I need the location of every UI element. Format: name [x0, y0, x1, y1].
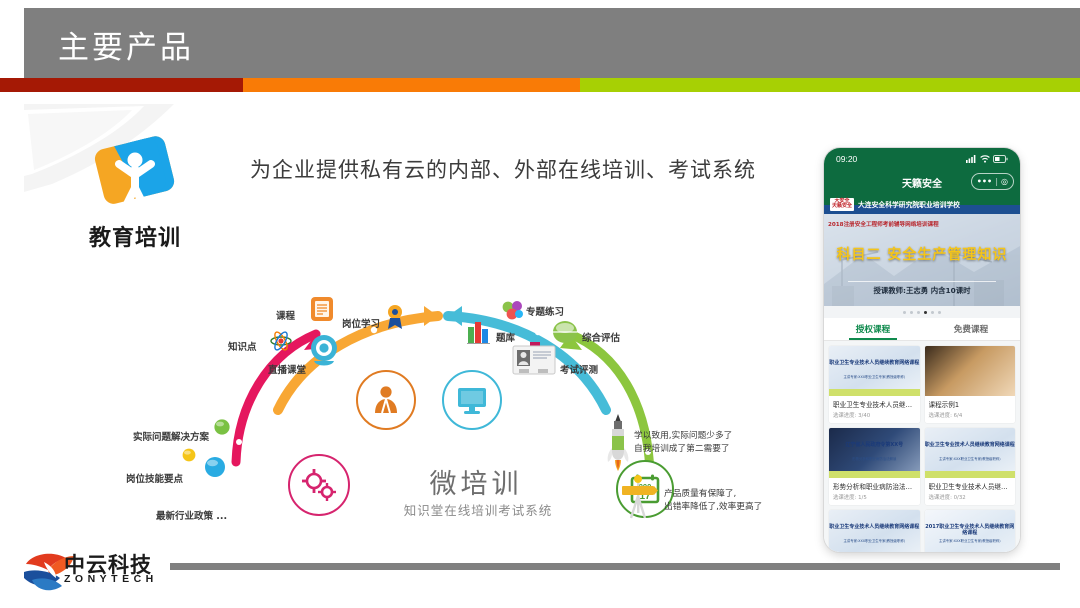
- label-job-learning: 岗位学习: [342, 316, 380, 330]
- hub-icon-monitor: [442, 370, 502, 430]
- thumbnail-subtitle: 主讲专家:XXX职业卫生专家(教授级职称): [925, 456, 1016, 461]
- status-time: 09:20: [836, 154, 857, 164]
- course-row: 职业卫生专业技术人员继续教育网络课程主讲专家:XXX职业卫生专家(教授级职称)职…: [829, 346, 1015, 423]
- course-tab-1[interactable]: 免费课程: [922, 318, 1020, 340]
- carousel-dot[interactable]: [931, 311, 934, 314]
- thumbnail-subtitle: 主讲专家:XXX职业卫生专家(教授级职称): [829, 538, 920, 543]
- accent-bar-red: [0, 78, 243, 92]
- footer-brand-en: ZONYTECH: [64, 573, 158, 585]
- banner-kicker: 2018注册安全工程师考前辅导网络培训课程: [828, 220, 939, 228]
- course-card[interactable]: 职业卫生专业技术人员继续教育网络课程主讲专家:XXX职业卫生专家(教授级职称)职…: [925, 428, 1016, 505]
- thumbnail-title: 辽宁省人民政府令第XX号: [829, 442, 920, 448]
- course-title: 课程示例1: [929, 399, 1012, 409]
- note-line-1: 产品质量有保障了,: [664, 489, 736, 499]
- accent-bar-orange: [243, 78, 580, 92]
- label-course: 课程: [276, 308, 295, 322]
- course-thumbnail: 职业卫生专业技术人员继续教育网络课程主讲专家:XXX职业卫生专家(教授级职称): [829, 346, 920, 396]
- course-card[interactable]: 职业卫生专业技术人员继续教育网络课程主讲专家:XXX职业卫生专家(教授级职称)职…: [829, 346, 920, 423]
- signal-bars-icon: [966, 155, 977, 163]
- pin-label-solutions: 实际问题解决方案: [133, 429, 209, 443]
- carousel-dot[interactable]: [910, 311, 913, 314]
- footer-divider: [170, 563, 1060, 570]
- phone-hero-banner[interactable]: 2018注册安全工程师考前辅导网络培训课程 科目二 安全生产管理知识 授课教师:…: [824, 214, 1020, 306]
- course-card-body: 课程示例1选课进度: 6/4: [925, 396, 1016, 423]
- education-pentagon-icon: [91, 130, 179, 214]
- course-progress: 选课进度: 1/5: [833, 493, 916, 501]
- training-infographic: 000 17 微培训 知识堂在线培训考试系统 知识点 课程: [118, 292, 798, 540]
- phone-school-bar: 大安全 天籁安全 大连安全科学研究院职业培训学校: [824, 194, 1020, 214]
- wifi-icon: [980, 155, 990, 163]
- battery-icon: [993, 155, 1008, 163]
- thumbnail-footer-bar: [925, 471, 1016, 478]
- course-card-body: 职业卫生专业技术人员继续教...选课进度: 3/40: [829, 396, 920, 423]
- course-progress: 选课进度: 3/40: [833, 411, 916, 419]
- section-headline: 为企业提供私有云的内部、外部在线培训、考试系统: [250, 154, 756, 184]
- banner-meta: 授课教师:王志勇 内含10课时: [824, 285, 1020, 296]
- note-quality-assured: 产品质量有保障了, 出错率降低了,效率更高了: [664, 488, 762, 513]
- carousel-dot[interactable]: [924, 311, 927, 314]
- carousel-dot[interactable]: [938, 311, 941, 314]
- infographic-center-title: 微培训: [376, 462, 576, 501]
- books-icon: [466, 318, 492, 349]
- course-progress: 选课进度: 0/32: [929, 493, 1012, 501]
- course-progress: 选课进度: 6/4: [929, 411, 1012, 419]
- badge-ribbon-icon: [386, 304, 404, 335]
- course-card[interactable]: 2017职业卫生专业技术人员继续教育网络课程主讲专家:XXX职业卫生专家(教授级…: [925, 510, 1016, 552]
- target-circle-icon[interactable]: ◎: [1001, 177, 1008, 186]
- more-dots-icon[interactable]: •••: [977, 177, 992, 186]
- phone-status-bar: 09:20: [824, 148, 1020, 170]
- note-line-2: 自我培训成了第二需要了: [634, 444, 730, 454]
- label-live-classroom: 直播课堂: [268, 362, 306, 376]
- banner-divider: [848, 281, 996, 282]
- course-title: 职业卫生专业技术人员继续教...: [833, 399, 916, 409]
- phone-mockup: 09:20 天籁安全: [824, 148, 1020, 552]
- thumbnail-footer-bar: [829, 389, 920, 396]
- education-section-label: 教育培训: [60, 220, 210, 252]
- map-pin-blue-icon: [198, 450, 232, 494]
- label-exam-evaluation: 考试评测: [560, 362, 598, 376]
- navbar-capsule[interactable]: ••• | ◎: [971, 173, 1014, 190]
- course-tab-0[interactable]: 授权课程: [824, 318, 922, 340]
- course-thumbnail: [925, 346, 1016, 396]
- course-card[interactable]: 职业卫生专业技术人员继续教育网络课程主讲专家:XXX职业卫生专家(教授级职称): [829, 510, 920, 552]
- atom-icon: [270, 330, 292, 357]
- course-thumbnail: 职业卫生专业技术人员继续教育网络课程主讲专家:XXX职业卫生专家(教授级职称): [829, 510, 920, 552]
- hub-icon-person: [356, 370, 416, 430]
- course-thumbnail: 辽宁省人民政府令第XX号形势分析和职业病防治法解读: [829, 428, 920, 478]
- rocket-icon: [606, 414, 630, 477]
- thumbnail-title: 职业卫生专业技术人员继续教育网络课程: [829, 360, 920, 366]
- note-line-2: 出错率降低了,效率更高了: [664, 502, 762, 512]
- map-pin-green-icon: [209, 414, 235, 448]
- school-bar-text: 大连安全科学研究院职业培训学校: [858, 199, 960, 209]
- thumbnail-title: 2017职业卫生专业技术人员继续教育网络课程: [925, 524, 1016, 537]
- webcam-icon: [308, 334, 340, 373]
- infographic-center-subtitle: 知识堂在线培训考试系统: [338, 500, 618, 519]
- course-card-body: 形势分析和职业病防治法解读选课进度: 1/5: [829, 478, 920, 505]
- carousel-dots[interactable]: [824, 306, 1020, 318]
- document-list-icon: [310, 296, 334, 327]
- slide-canvas: 主要产品 教育培训 为企业提供私有云的内部、外部在线培训、考试系统: [0, 0, 1080, 608]
- pin-label-job-skills: 岗位技能要点: [126, 471, 183, 485]
- school-logo-line2: 天籁安全: [832, 203, 852, 209]
- course-card[interactable]: 课程示例1选课进度: 6/4: [925, 346, 1016, 423]
- course-row: 辽宁省人民政府令第XX号形势分析和职业病防治法解读形势分析和职业病防治法解读选课…: [829, 428, 1015, 505]
- course-row: 职业卫生专业技术人员继续教育网络课程主讲专家:XXX职业卫生专家(教授级职称)2…: [829, 510, 1015, 552]
- phone-navbar: 天籁安全 ••• | ◎: [824, 170, 1020, 194]
- thumbnail-subtitle: 形势分析和职业病防治法解读: [829, 456, 920, 461]
- thumbnail-title: 职业卫生专业技术人员继续教育网络课程: [925, 442, 1016, 448]
- thumbnail-title: 职业卫生专业技术人员继续教育网络课程: [829, 524, 920, 530]
- thumbnail-subtitle: 主讲专家:XXX职业卫生专家(教授级职称): [925, 538, 1016, 543]
- course-card[interactable]: 辽宁省人民政府令第XX号形势分析和职业病防治法解读形势分析和职业病防治法解读选课…: [829, 428, 920, 505]
- note-line-1: 学以致用,实际问题少多了: [634, 431, 732, 441]
- note-learning-applied: 学以致用,实际问题少多了 自我培训成了第二需要了: [634, 430, 732, 455]
- id-card-icon: [512, 342, 556, 381]
- accent-bar-green: [580, 78, 1080, 92]
- balls-cluster-icon: [502, 300, 524, 325]
- label-topic-practice: 专题练习: [526, 304, 564, 318]
- page-title: 主要产品: [58, 22, 194, 67]
- course-thumbnail: 职业卫生专业技术人员继续教育网络课程主讲专家:XXX职业卫生专家(教授级职称): [925, 428, 1016, 478]
- phone-course-list[interactable]: 职业卫生专业技术人员继续教育网络课程主讲专家:XXX职业卫生专家(教授级职称)职…: [824, 341, 1020, 552]
- education-section: 教育培训: [60, 130, 210, 252]
- label-knowledge-point: 知识点: [228, 339, 257, 353]
- banner-title: 科目二 安全生产管理知识: [824, 244, 1020, 264]
- carousel-dot[interactable]: [917, 311, 920, 314]
- course-thumbnail: 2017职业卫生专业技术人员继续教育网络课程主讲专家:XXX职业卫生专家(教授级…: [925, 510, 1016, 552]
- pin-label-industry-policy: 最新行业政策 ...: [156, 508, 227, 522]
- label-comprehensive-assessment: 综合评估: [582, 330, 620, 344]
- thumbnail-footer-bar: [829, 471, 920, 478]
- course-title: 形势分析和职业病防治法解读: [833, 481, 916, 491]
- course-title: 职业卫生专业技术人员继续教...: [929, 481, 1012, 491]
- course-card-body: 职业卫生专业技术人员继续教...选课进度: 0/32: [925, 478, 1016, 505]
- phone-course-tabs[interactable]: 授权课程免费课程: [824, 318, 1020, 341]
- school-logo: 大安全 天籁安全: [830, 198, 854, 211]
- navbar-title: 天籁安全: [902, 175, 942, 190]
- carousel-dot[interactable]: [903, 311, 906, 314]
- thumbnail-subtitle: 主讲专家:XXX职业卫生专家(教授级职称): [829, 374, 920, 379]
- signpost-icon: [618, 474, 658, 525]
